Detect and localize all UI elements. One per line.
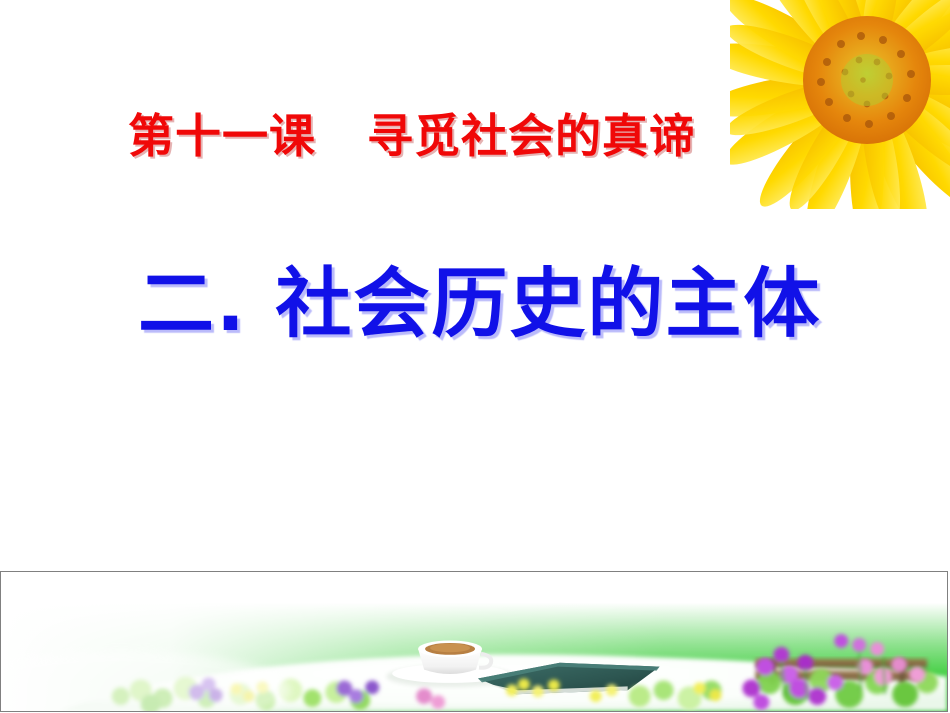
slide-canvas: 第十一课 寻觅社会的真谛 二. 社会历史的主体 — [0, 0, 950, 713]
sunflower-icon — [730, 0, 950, 209]
sunflower-decoration — [730, 0, 950, 209]
section-title: 二. 社会历史的主体 — [138, 262, 821, 346]
lesson-title: 第十一课 寻觅社会的真谛 — [128, 112, 696, 162]
garden-table-illustration — [1, 572, 947, 711]
bottom-banner-image — [0, 571, 948, 712]
